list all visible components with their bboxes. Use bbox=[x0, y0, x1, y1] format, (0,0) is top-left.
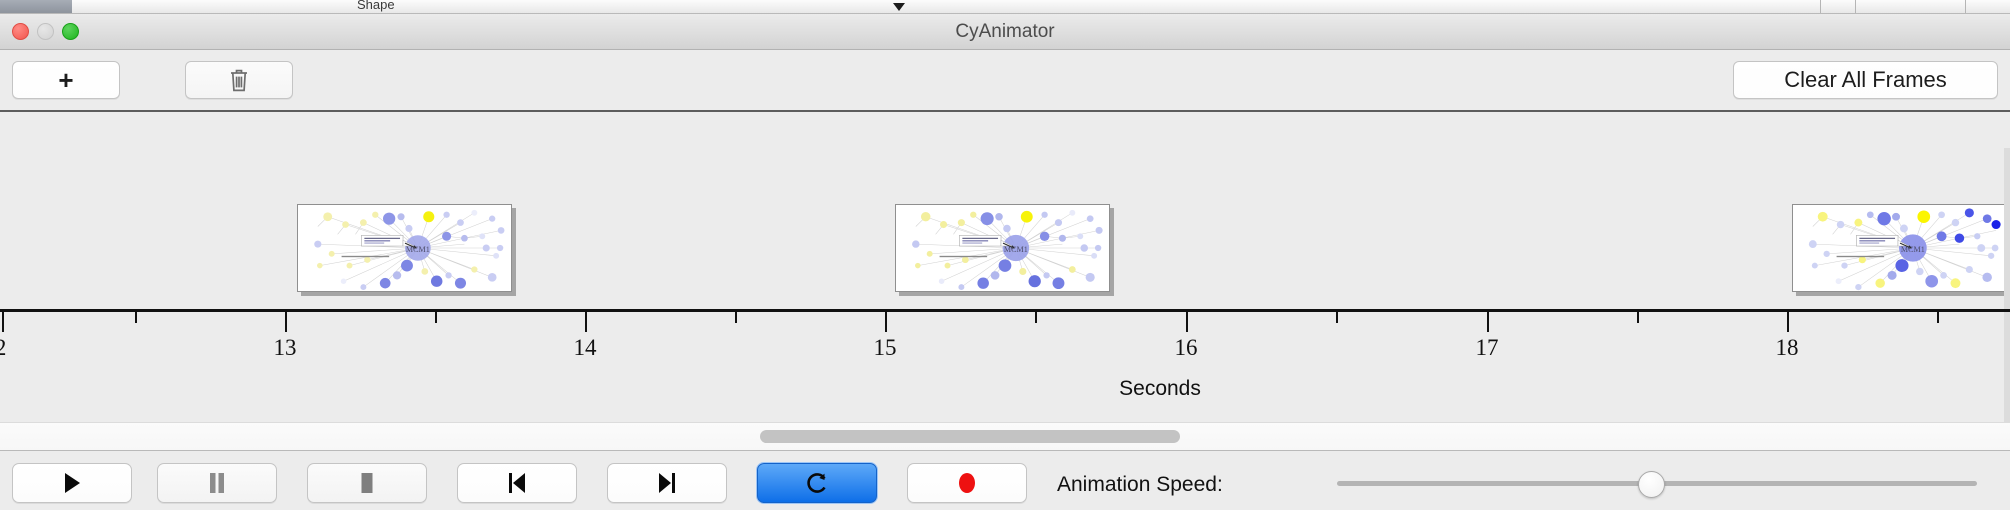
svg-text:MCM1: MCM1 bbox=[406, 245, 430, 254]
axis-tick-minor-5 bbox=[735, 312, 737, 323]
svg-text:MCM1: MCM1 bbox=[1901, 245, 1925, 254]
axis-tick-minor-13 bbox=[1937, 312, 1939, 323]
axis-tick-18 bbox=[1787, 312, 1789, 332]
axis-tick-label-2: 2 bbox=[0, 335, 6, 361]
play-icon bbox=[62, 472, 82, 494]
plus-icon: + bbox=[58, 65, 73, 96]
trash-icon bbox=[228, 67, 250, 93]
axis-title-seconds: Seconds bbox=[1119, 377, 1201, 401]
axis-tick-minor-7 bbox=[1035, 312, 1037, 323]
axis-tick-15 bbox=[885, 312, 887, 332]
axis-tick-label-15: 15 bbox=[874, 335, 897, 361]
axis-tick-16 bbox=[1186, 312, 1188, 332]
svg-text:MCM1: MCM1 bbox=[1004, 245, 1028, 254]
pause-icon bbox=[208, 472, 226, 494]
stop-button[interactable] bbox=[307, 463, 427, 503]
frame-toolbar: + Clear All Frames bbox=[0, 50, 2010, 112]
bg-tab-1 bbox=[72, 0, 185, 13]
frame-thumbnail-2[interactable]: MCM1 bbox=[895, 204, 1110, 292]
record-button[interactable] bbox=[907, 463, 1027, 503]
animation-speed-slider-thumb[interactable] bbox=[1638, 471, 1665, 498]
bg-app-label: Shape bbox=[357, 0, 395, 12]
frame-thumbnail-1[interactable]: MCM1 bbox=[297, 204, 512, 292]
timeline-axis-line bbox=[0, 309, 2010, 312]
bg-tab-3 bbox=[239, 0, 258, 13]
axis-tick-minor-1 bbox=[135, 312, 137, 323]
bg-caret-icon bbox=[893, 3, 905, 11]
bg-tab-2 bbox=[184, 0, 240, 13]
bg-tab-8 bbox=[946, 0, 2010, 13]
axis-tick-label-14: 14 bbox=[574, 335, 597, 361]
axis-tick-label-13: 13 bbox=[274, 335, 297, 361]
axis-tick-13 bbox=[285, 312, 287, 332]
playback-controls-bar: Animation Speed: bbox=[0, 451, 2010, 510]
axis-tick-2 bbox=[2, 312, 4, 332]
window-title: CyAnimator bbox=[0, 21, 2010, 43]
skip-to-end-button[interactable] bbox=[607, 463, 727, 503]
skip-back-icon bbox=[506, 472, 528, 494]
axis-tick-minor-3 bbox=[435, 312, 437, 323]
bg-tab-dark bbox=[0, 0, 73, 13]
cyanimator-window: CyAnimator + Clear All Frames bbox=[0, 13, 2010, 510]
skip-forward-icon bbox=[656, 472, 678, 494]
window-titlebar: CyAnimator bbox=[0, 14, 2010, 50]
cyanimator-screenshot: Shape CyAnimator + bbox=[0, 0, 2010, 510]
axis-tick-label-17: 17 bbox=[1476, 335, 1499, 361]
delete-frame-button[interactable] bbox=[185, 61, 293, 99]
frame-thumbnail-3[interactable]: MCM1 bbox=[1792, 204, 2007, 292]
scrollbar-thumb[interactable] bbox=[760, 430, 1180, 443]
clear-all-frames-label: Clear All Frames bbox=[1784, 67, 1947, 93]
animation-speed-label: Animation Speed: bbox=[1057, 473, 1223, 497]
pause-button[interactable] bbox=[157, 463, 277, 503]
network-graph-preview: MCM1 bbox=[298, 205, 511, 291]
axis-tick-17 bbox=[1487, 312, 1489, 332]
timeline-panel[interactable]: MCM1 bbox=[0, 112, 2010, 422]
timeline-horizontal-scrollbar[interactable] bbox=[0, 422, 2010, 451]
clear-all-frames-button[interactable]: Clear All Frames bbox=[1733, 61, 1998, 99]
bg-tab-4 bbox=[257, 0, 280, 13]
bg-tab-6 bbox=[355, 0, 902, 13]
network-graph-preview: MCM1 bbox=[896, 205, 1109, 291]
background-app-toolbar: Shape bbox=[0, 0, 2010, 13]
bg-tab-7 bbox=[901, 0, 947, 13]
axis-tick-14 bbox=[585, 312, 587, 332]
loop-button[interactable] bbox=[757, 463, 877, 503]
network-graph-preview: MCM1 bbox=[1793, 205, 2006, 291]
add-frame-button[interactable]: + bbox=[12, 61, 120, 99]
axis-tick-label-16: 16 bbox=[1175, 335, 1198, 361]
play-button[interactable] bbox=[12, 463, 132, 503]
loop-icon bbox=[805, 471, 829, 495]
skip-to-start-button[interactable] bbox=[457, 463, 577, 503]
axis-tick-minor-9 bbox=[1336, 312, 1338, 323]
timeline-vertical-scrollbar[interactable] bbox=[2004, 148, 2010, 422]
record-icon bbox=[955, 470, 979, 496]
bg-tab-5 bbox=[279, 0, 356, 13]
axis-tick-label-18: 18 bbox=[1776, 335, 1799, 361]
axis-tick-minor-11 bbox=[1637, 312, 1639, 323]
stop-icon bbox=[358, 472, 376, 494]
